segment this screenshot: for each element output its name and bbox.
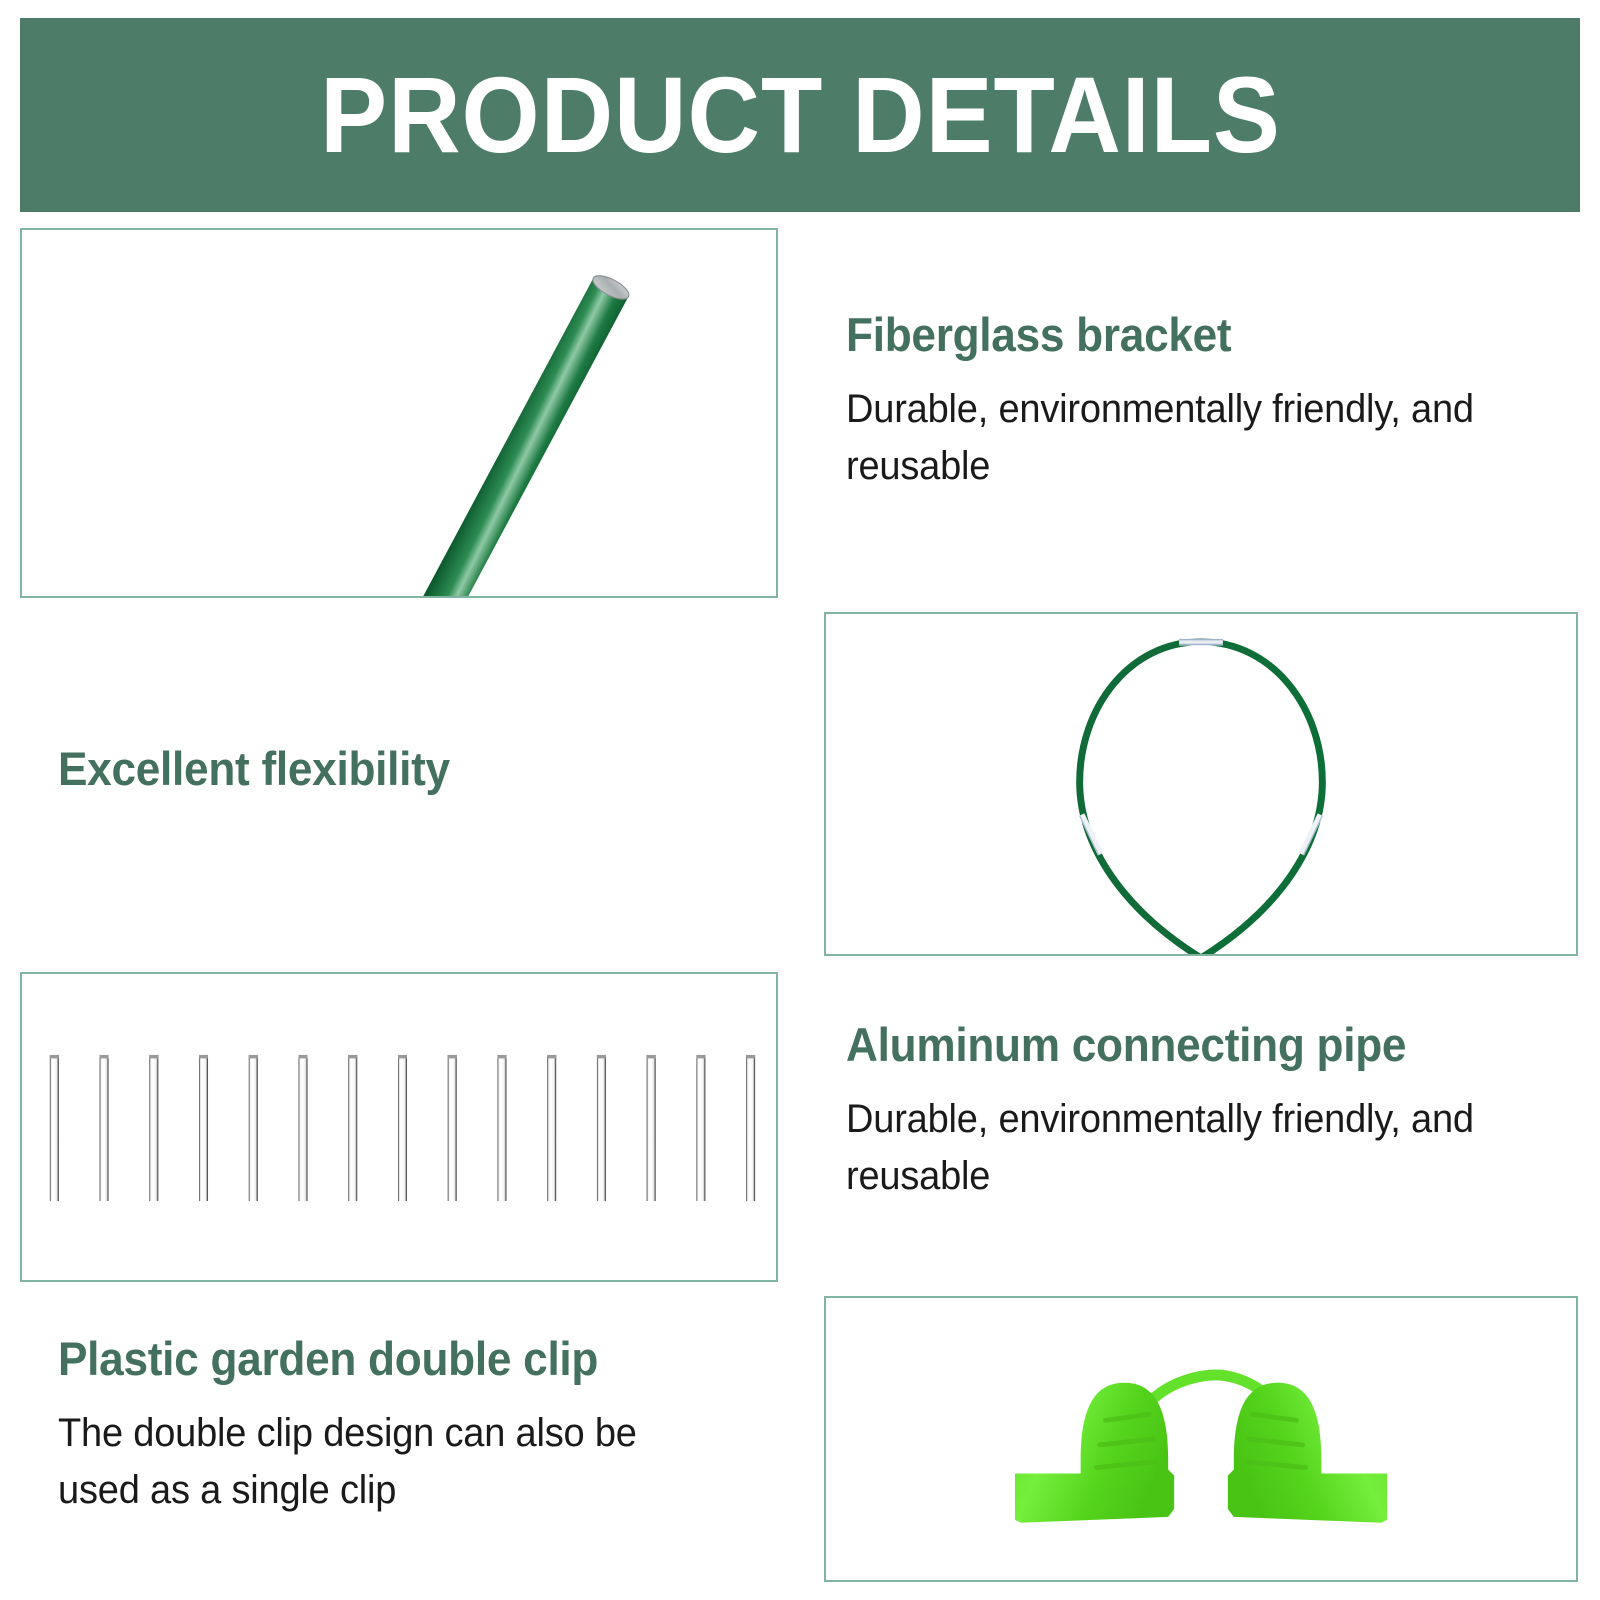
aluminum-tube [448, 1055, 457, 1201]
feature-body-fiberglass-bracket: Durable, environmentally friendly, and r… [846, 381, 1511, 495]
feature-title-fiberglass-bracket: Fiberglass bracket [846, 306, 1504, 363]
aluminum-tubes-image-panel [20, 972, 778, 1282]
aluminum-tube [597, 1055, 606, 1201]
aluminum-tube [746, 1055, 755, 1201]
aluminum-tube-cap [547, 1055, 556, 1058]
aluminum-tube-cap [100, 1055, 109, 1058]
feature-title-aluminum-connecting-pipe: Aluminum connecting pipe [846, 1016, 1504, 1073]
feature-text-plastic-garden-double-clip: Plastic garden double clip The double cl… [58, 1330, 758, 1519]
feature-body-aluminum-connecting-pipe: Durable, environmentally friendly, and r… [846, 1091, 1511, 1205]
page-title: PRODUCT DETAILS [320, 61, 1281, 169]
aluminum-tube-cap [647, 1055, 656, 1058]
aluminum-tube [696, 1055, 705, 1201]
double-clip-image-panel [824, 1296, 1578, 1582]
aluminum-tube-cap [497, 1055, 506, 1058]
aluminum-tube-cap [746, 1055, 755, 1058]
aluminum-tube [497, 1055, 506, 1201]
aluminum-tube-cap [448, 1055, 457, 1058]
aluminum-tube [100, 1055, 109, 1201]
fiberglass-rod-image-panel [20, 228, 778, 598]
aluminum-tube-cap [249, 1055, 258, 1058]
fiberglass-rod-photo [22, 230, 776, 596]
aluminum-tube [149, 1055, 158, 1201]
aluminum-tube-cap [50, 1055, 59, 1058]
feature-text-fiberglass-bracket: Fiberglass bracket Durable, environmenta… [846, 306, 1546, 495]
aluminum-tube-cap [597, 1055, 606, 1058]
product-details-infographic: PRODUCT DETAILS [0, 0, 1600, 1600]
aluminum-tube-cap [348, 1055, 357, 1058]
feature-text-aluminum-connecting-pipe: Aluminum connecting pipe Durable, enviro… [846, 1016, 1546, 1205]
flexed-rod-loop-image-panel [824, 612, 1578, 956]
aluminum-tube-cap [149, 1055, 158, 1058]
flexed-rod-loop-photo [826, 614, 1576, 954]
aluminum-tube [547, 1055, 556, 1201]
aluminum-tube [199, 1055, 208, 1201]
aluminum-tube [50, 1055, 59, 1201]
aluminum-tube-cap [199, 1055, 208, 1058]
feature-body-plastic-garden-double-clip: The double clip design can also be used … [58, 1405, 723, 1519]
aluminum-tube-cap [398, 1055, 407, 1058]
feature-text-excellent-flexibility: Excellent flexibility [58, 740, 758, 797]
aluminum-tubes-photo [22, 974, 776, 1280]
aluminum-tube-cap [299, 1055, 308, 1058]
aluminum-tube [348, 1055, 357, 1201]
header-banner: PRODUCT DETAILS [20, 18, 1580, 212]
feature-title-excellent-flexibility: Excellent flexibility [58, 740, 716, 797]
aluminum-tube [398, 1055, 407, 1201]
feature-title-plastic-garden-double-clip: Plastic garden double clip [58, 1330, 716, 1387]
aluminum-tube [647, 1055, 656, 1201]
aluminum-tube-cap [696, 1055, 705, 1058]
double-clip-photo [826, 1298, 1576, 1580]
aluminum-tube [249, 1055, 258, 1201]
aluminum-tube [299, 1055, 308, 1201]
